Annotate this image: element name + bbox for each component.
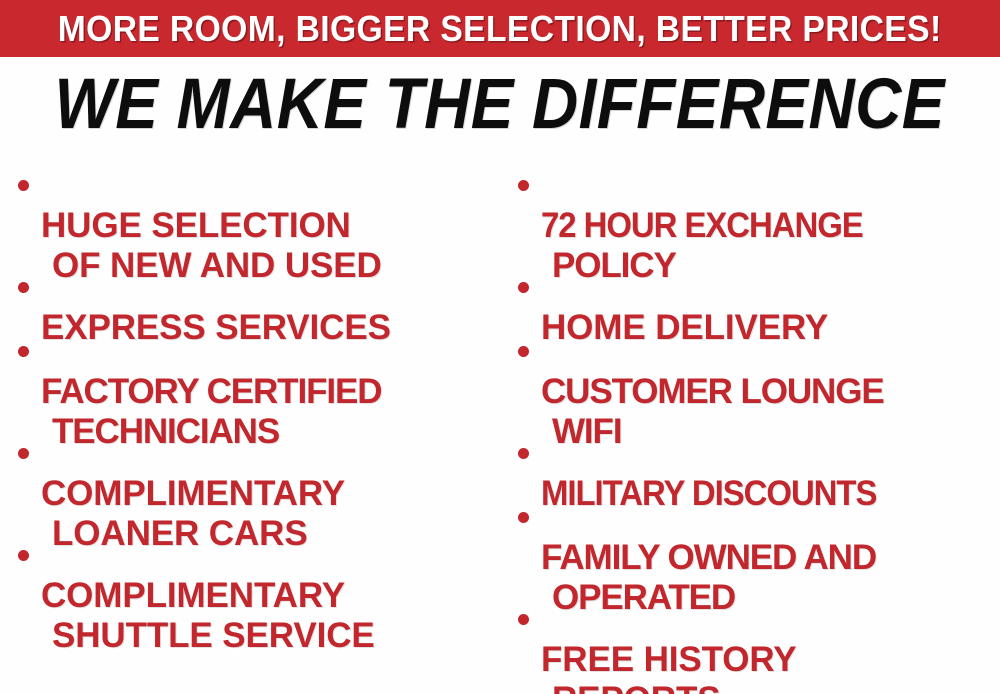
list-item: COMPLIMENTARY SHUTTLE SERVICE [18, 536, 375, 694]
bullet-dot-icon [518, 282, 529, 293]
bullet-dot-icon [18, 180, 29, 191]
bullet-line-1: COMPLIMENTARY [41, 474, 345, 513]
bullet-line-2: REPORTS [541, 680, 797, 694]
bullet-line-1: FAMILY OWNED AND [541, 538, 876, 577]
main-headline: WE MAKE THE DIFFERENCE [55, 69, 945, 140]
bullet-line-1: FREE HISTORY [541, 640, 797, 679]
bullet-dot-icon [518, 512, 529, 523]
bullet-line-1: HUGE SELECTION [41, 206, 351, 245]
bullet-label: COMPLIMENTARY SHUTTLE SERVICE [41, 536, 375, 694]
bullet-line-1: 72 HOUR EXCHANGE [541, 206, 863, 246]
bullet-dot-icon [518, 180, 529, 191]
bullet-label: FREE HISTORY REPORTS [541, 600, 797, 694]
bullet-line-1: CUSTOMER LOUNGE [541, 372, 884, 411]
list-item: FREE HISTORY REPORTS [518, 600, 797, 694]
headline-container: WE MAKE THE DIFFERENCE [0, 62, 1000, 146]
bullet-dot-icon [518, 448, 529, 459]
bullet-dot-icon [18, 346, 29, 357]
top-banner: MORE ROOM, BIGGER SELECTION, BETTER PRIC… [0, 0, 1000, 57]
bullet-dot-icon [18, 282, 29, 293]
bullet-line-1: FACTORY CERTIFIED [41, 372, 381, 411]
bullet-dot-icon [518, 614, 529, 625]
benefits-column-right: 72 HOUR EXCHANGE POLICY HOME DELIVERY CU… [518, 158, 1000, 694]
bullet-dot-icon [18, 448, 29, 459]
promotional-poster: MORE ROOM, BIGGER SELECTION, BETTER PRIC… [0, 0, 1000, 694]
bullet-dot-icon [518, 346, 529, 357]
benefits-column-left: HUGE SELECTION OF NEW AND USED EXPRESS S… [18, 158, 498, 694]
bullet-dot-icon [18, 550, 29, 561]
bullet-line-1: COMPLIMENTARY [41, 576, 345, 615]
bullet-line-2: SHUTTLE SERVICE [41, 616, 375, 656]
banner-headline-text: MORE ROOM, BIGGER SELECTION, BETTER PRIC… [58, 11, 942, 47]
benefits-columns: HUGE SELECTION OF NEW AND USED EXPRESS S… [0, 158, 1000, 694]
